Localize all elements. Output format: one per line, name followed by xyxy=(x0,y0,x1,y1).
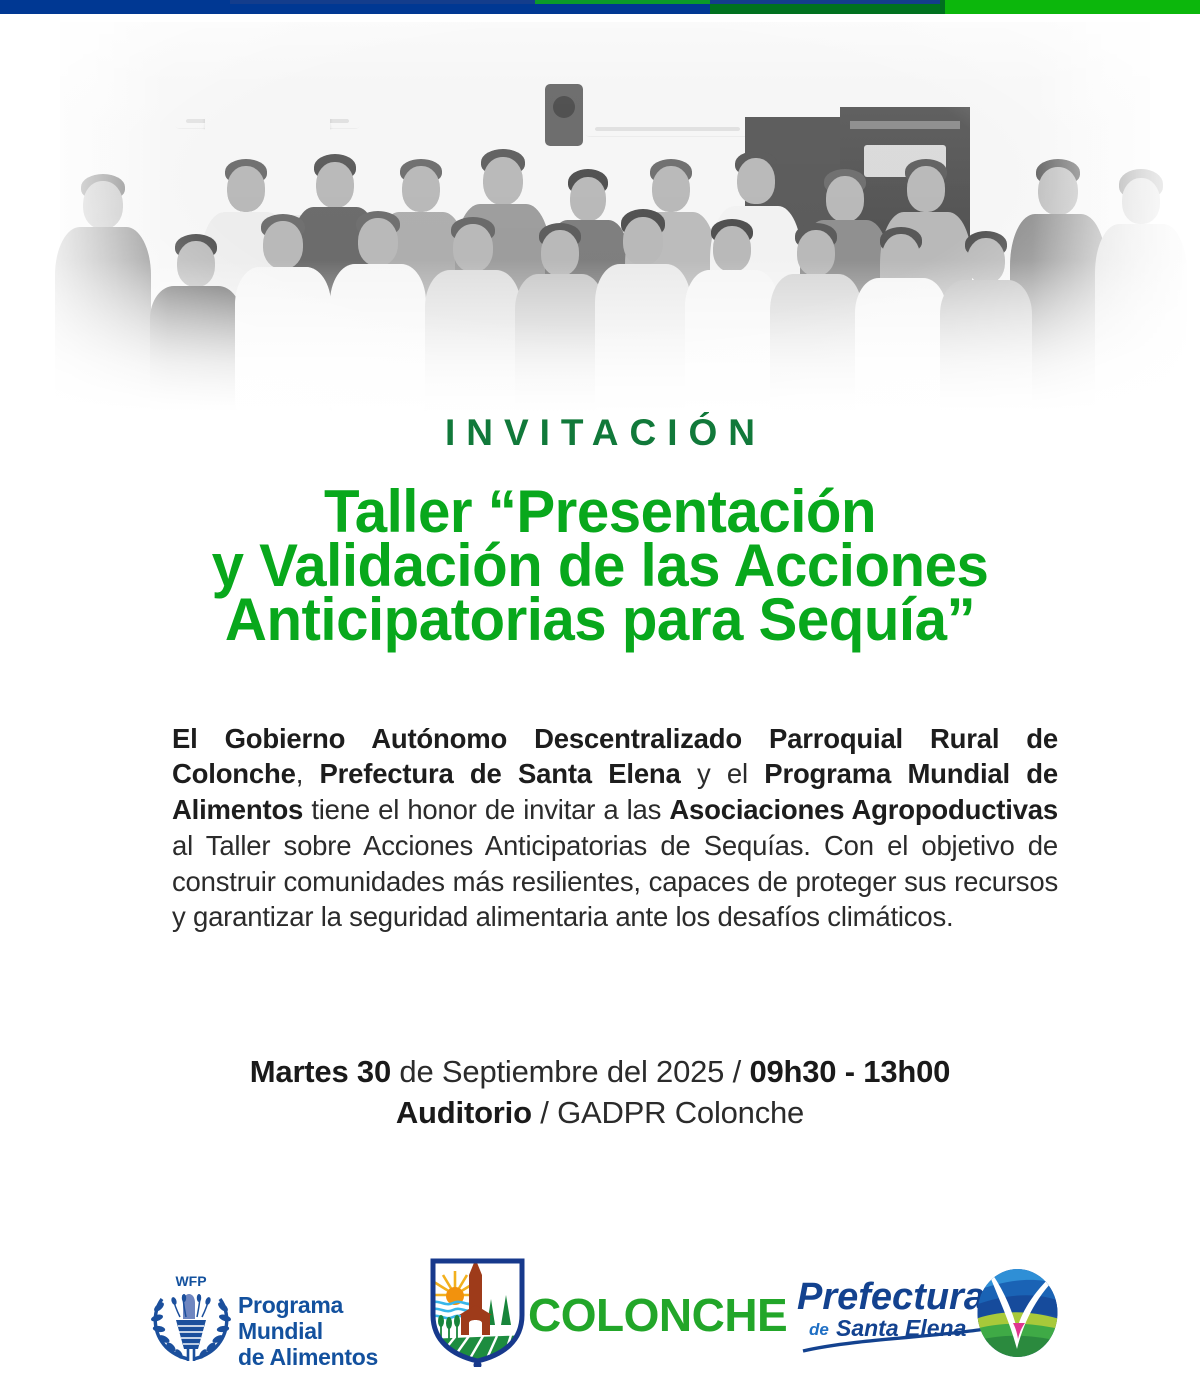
body-sep-1: , xyxy=(296,758,320,789)
event-date-line: Martes 30 de Septiembre del 2025 / 09h30… xyxy=(0,1052,1200,1093)
event-details: Martes 30 de Septiembre del 2025 / 09h30… xyxy=(0,1052,1200,1134)
wfp-wordmark: Programa Mundial de Alimentos xyxy=(238,1293,378,1370)
event-venue: Auditorio xyxy=(396,1095,532,1130)
colonche-wordmark: COLONCHE xyxy=(528,1288,787,1342)
body-text-2: al Taller sobre Acciones Anticipatorias … xyxy=(172,830,1058,933)
body-audience: Asociaciones Agropoductivas xyxy=(669,794,1058,825)
wfp-line-1: Programa xyxy=(238,1293,378,1319)
svg-text:WFP: WFP xyxy=(175,1273,206,1289)
body-sep-2: y el xyxy=(681,758,765,789)
body-org-prefectura: Prefectura de Santa Elena xyxy=(320,758,681,789)
prefectura-line-1: Prefectura xyxy=(797,1276,985,1318)
prefectura-logo: Prefectura de Santa Elena xyxy=(795,1265,1065,1370)
body-text-1: tiene el honor de invitar a las xyxy=(303,794,669,825)
wfp-logo: WFP xyxy=(150,1273,380,1373)
title-line-3: Anticipatorias para Sequía” xyxy=(18,593,1182,647)
event-time: 09h30 - 13h00 xyxy=(749,1054,950,1089)
event-date-bold: Martes 30 xyxy=(250,1054,391,1089)
title-line-2: y Validación de las Acciones xyxy=(18,539,1182,593)
wfp-line-3: de Alimentos xyxy=(238,1345,378,1371)
title-line-1: Taller “Presentación xyxy=(18,485,1182,539)
event-venue-rest: / GADPR Colonche xyxy=(532,1095,804,1130)
event-date-rest: de Septiembre del 2025 / xyxy=(391,1054,749,1089)
poster-content: INVITACIÓN Taller “Presentación y Valida… xyxy=(0,0,1200,1400)
prefectura-line-2-prefix: de xyxy=(809,1320,829,1339)
prefectura-wordmark: Prefectura de Santa Elena xyxy=(795,1265,995,1355)
colonche-shield-icon xyxy=(425,1255,530,1367)
topbar-segment-light-green xyxy=(945,0,1200,14)
event-place-line: Auditorio / GADPR Colonche xyxy=(0,1093,1200,1134)
kicker-invitacion: INVITACIÓN xyxy=(0,412,1200,454)
prefectura-emblem-icon xyxy=(975,1267,1060,1359)
invitation-body: El Gobierno Autónomo Descentralizado Par… xyxy=(172,721,1058,936)
wfp-line-2: Mundial xyxy=(238,1319,378,1345)
colonche-logo: COLONCHE xyxy=(425,1255,755,1375)
wfp-emblem-icon: WFP xyxy=(150,1273,232,1363)
logo-strip: WFP xyxy=(0,1255,1200,1380)
page-title: Taller “Presentación y Validación de las… xyxy=(18,485,1182,647)
topbar-accent-green xyxy=(535,0,710,4)
top-color-bar xyxy=(0,0,1200,14)
